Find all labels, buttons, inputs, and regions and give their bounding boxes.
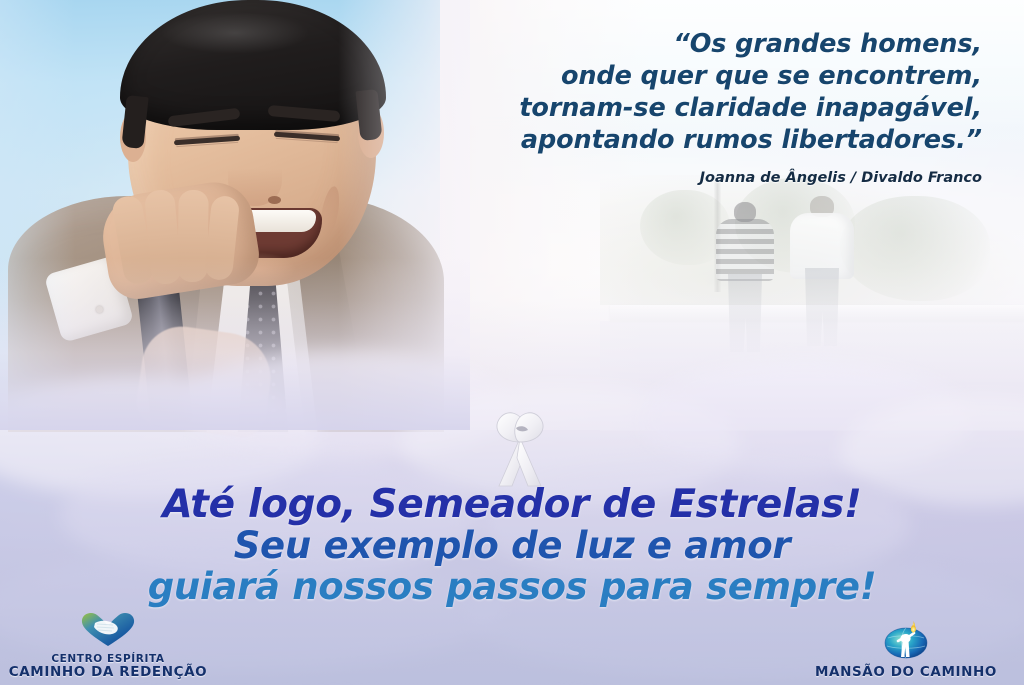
- logo-mansao-label: MANSÃO DO CAMINHO: [796, 666, 1016, 679]
- scene-person-head: [734, 202, 756, 222]
- logo-line-1: MANSÃO DO CAMINHO: [796, 666, 1016, 679]
- heart-hand-icon: [8, 611, 208, 651]
- logo-line-2: CAMINHO DA REDENÇÃO: [8, 666, 208, 679]
- quote-attribution: Joanna de Ângelis / Divaldo Franco: [422, 170, 982, 186]
- logo-mansao-do-caminho: MANSÃO DO CAMINHO: [796, 620, 1016, 679]
- quote-line-3: tornam-se claridade inapagável,: [422, 92, 982, 124]
- scene-person-torso: [790, 213, 854, 279]
- headline-line-1: Até logo, Semeador de Estrelas!: [0, 484, 1024, 525]
- quote-line-1: “Os grandes homens,: [422, 28, 982, 60]
- scene-hillside: [600, 175, 1024, 305]
- cuff-button: [96, 306, 103, 313]
- quote-line-2: onde quer que se encontrem,: [422, 60, 982, 92]
- globe-figure-flame-icon: [796, 620, 1016, 664]
- mourning-ribbon-icon: [482, 408, 558, 490]
- scene-person-legs: [728, 274, 762, 352]
- scene-person-striped-shirt: [716, 202, 774, 362]
- scene-person-torso: [716, 219, 774, 281]
- scene-wall: [610, 305, 1024, 321]
- memorial-poster: “Os grandes homens, onde quer que se enc…: [0, 0, 1024, 685]
- scene-person-white-shirt: [790, 196, 854, 362]
- headline-text: Até logo, Semeador de Estrelas! Seu exem…: [0, 484, 1024, 607]
- portrait-photo: [0, 0, 470, 430]
- quote-line-4: apontando rumos libertadores.”: [422, 124, 982, 156]
- scene-tree: [840, 196, 990, 301]
- hair-highlight: [160, 12, 310, 54]
- scene-tree: [735, 178, 855, 273]
- scene-person-head: [810, 196, 834, 217]
- quote-text: “Os grandes homens, onde quer que se enc…: [422, 28, 982, 156]
- finger: [177, 190, 209, 283]
- scene-ground: [600, 321, 1024, 431]
- logo-centro-espirita-label: CENTRO ESPÍRITA CAMINHO DA REDENÇÃO: [8, 653, 208, 679]
- scene-person-legs: [805, 268, 839, 346]
- headline-line-2: Seu exemplo de luz e amor: [0, 525, 1024, 566]
- scene-lamppost: [714, 182, 721, 292]
- headline-line-3: guiará nossos passos para sempre!: [0, 566, 1024, 607]
- nostril: [268, 196, 281, 204]
- scene-tree: [640, 190, 730, 265]
- logo-centro-espirita: CENTRO ESPÍRITA CAMINHO DA REDENÇÃO: [8, 611, 208, 679]
- cloud: [640, 360, 970, 478]
